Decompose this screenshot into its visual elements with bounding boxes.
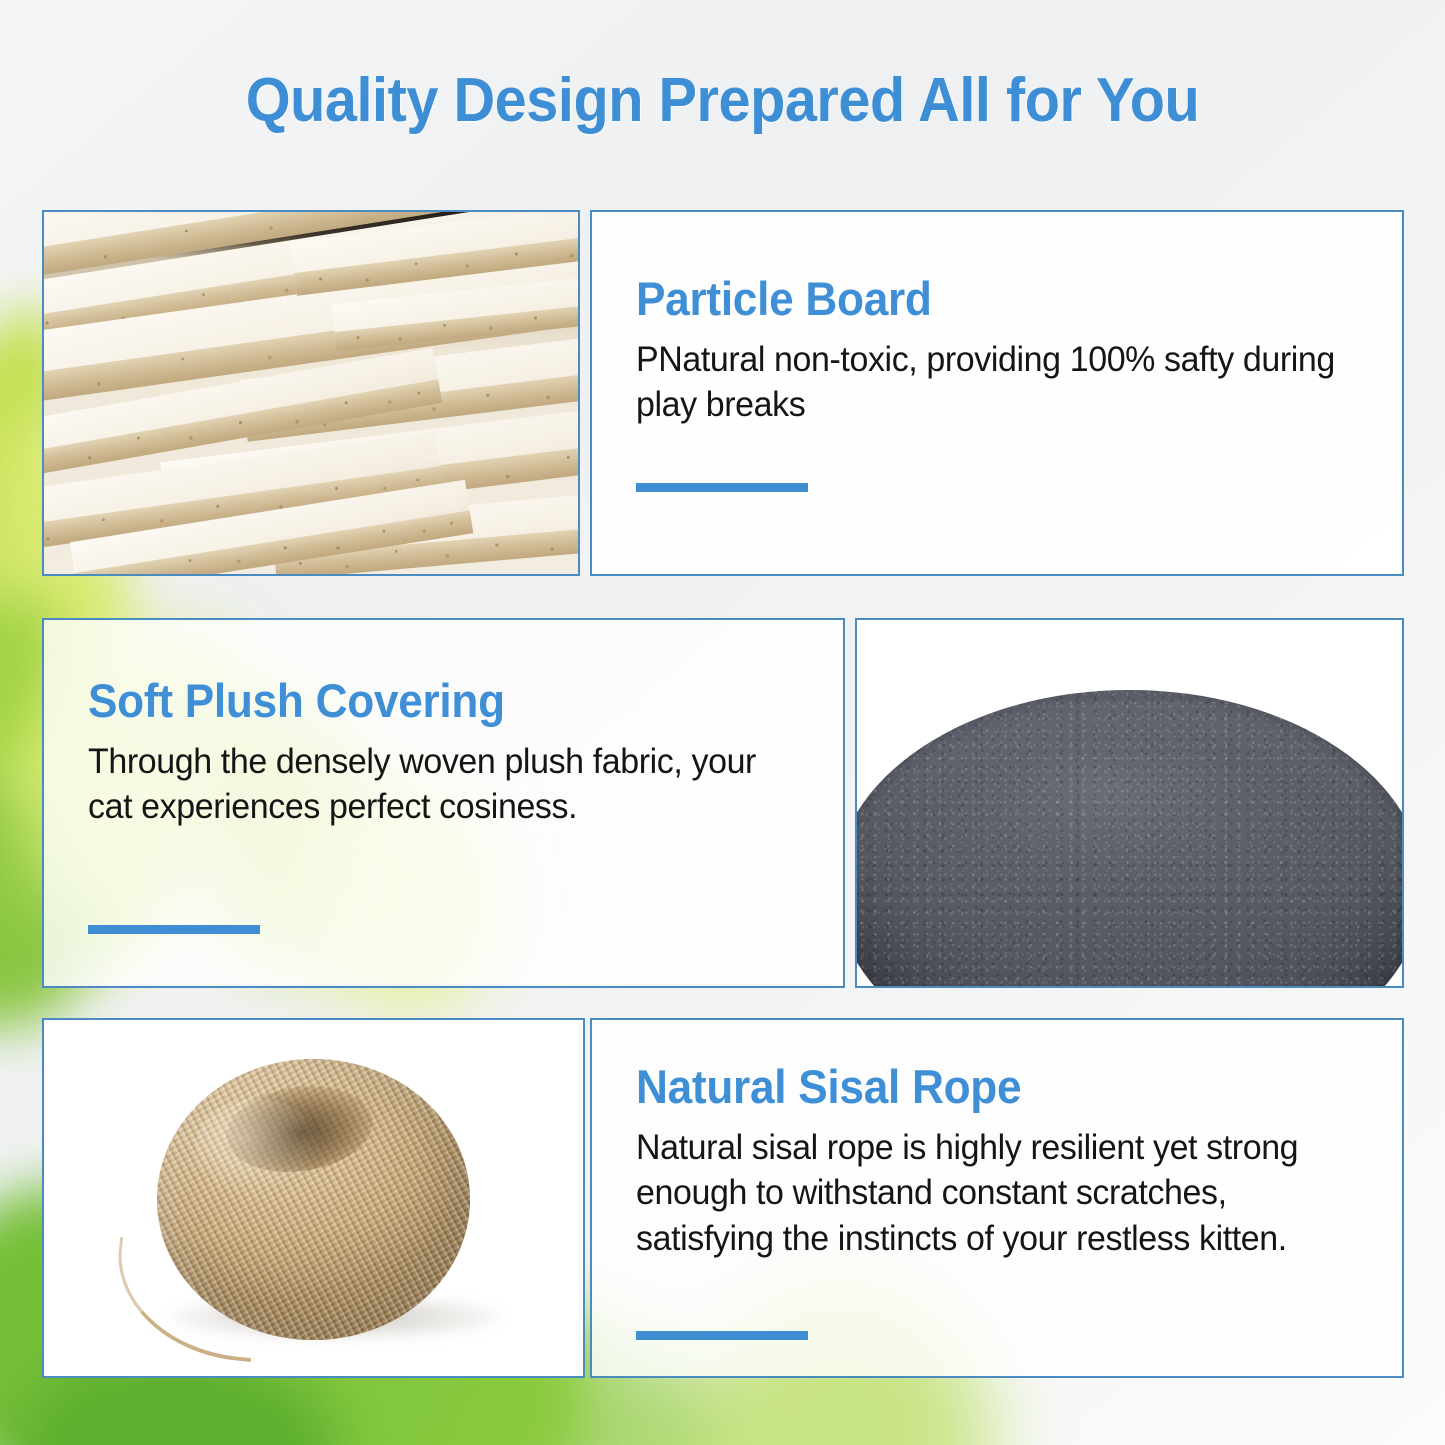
soft-plush-image-panel: [855, 618, 1404, 988]
sisal-rope-image-panel: [42, 1018, 585, 1378]
particle-board-photo: [44, 212, 578, 574]
page-title: Quality Design Prepared All for You: [51, 68, 1395, 133]
particle-board-image-panel: [42, 210, 580, 576]
particle-board-text-panel: Particle Board PNatural non-toxic, provi…: [590, 210, 1404, 576]
grey-plush-cushion-photo: [857, 620, 1402, 986]
plush-cushion-shape: [855, 690, 1404, 988]
accent-underline-bar: [636, 1331, 808, 1340]
product-feature-infographic: Quality Design Prepared All for You: [0, 0, 1445, 1445]
card-heading-sisal-rope: Natural Sisal Rope: [636, 1062, 1324, 1113]
card-heading-soft-plush: Soft Plush Covering: [88, 676, 766, 727]
card-heading-particle-board: Particle Board: [636, 274, 1324, 325]
card-body-sisal-rope: Natural sisal rope is highly resilient y…: [636, 1125, 1346, 1262]
sisal-rope-ball-photo: [44, 1020, 583, 1376]
soft-plush-text-panel: Soft Plush Covering Through the densely …: [42, 618, 845, 988]
card-body-soft-plush: Through the densely woven plush fabric, …: [88, 739, 787, 830]
rope-ball-shape: [157, 1059, 470, 1340]
sisal-rope-text-panel: Natural Sisal Rope Natural sisal rope is…: [590, 1018, 1404, 1378]
plush-edge-shading: [855, 690, 1404, 988]
card-body-particle-board: PNatural non-toxic, providing 100% safty…: [636, 337, 1346, 428]
accent-underline-bar: [636, 483, 808, 492]
accent-underline-bar: [88, 925, 260, 934]
